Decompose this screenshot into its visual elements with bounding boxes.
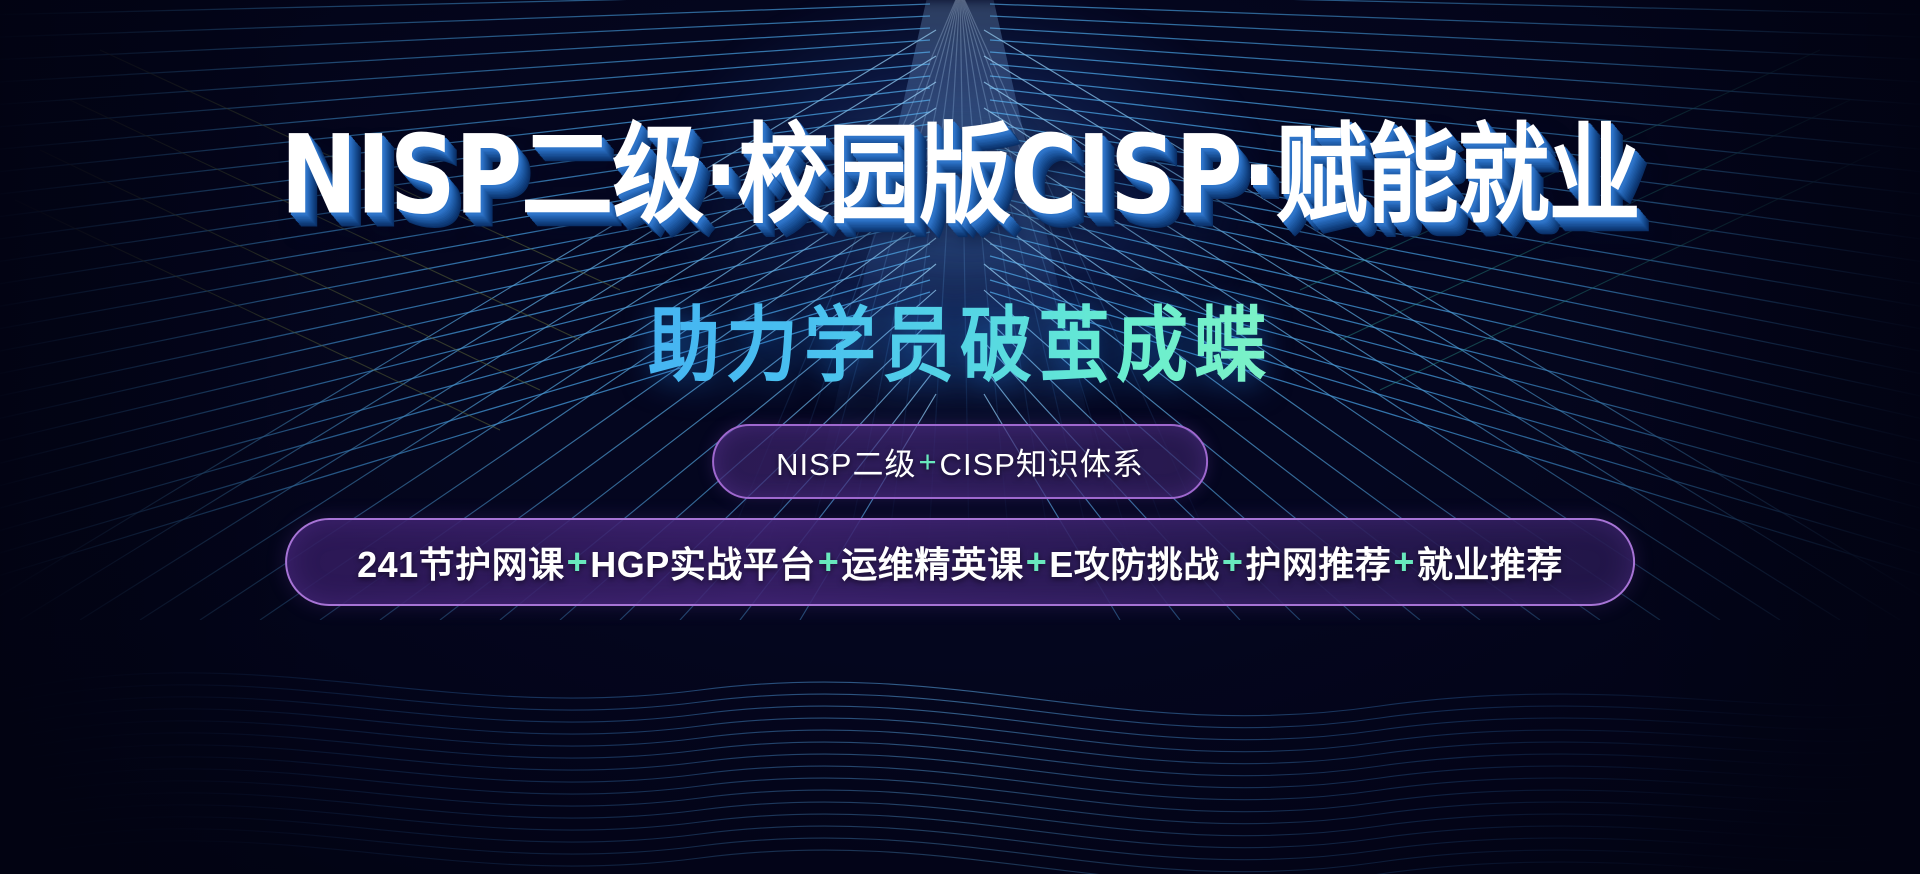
badge-features-seg-1: HGP实战平台 bbox=[590, 536, 816, 588]
badge-features-sep-1: + bbox=[816, 541, 842, 583]
badge-features-seg-4: 护网推荐 bbox=[1245, 536, 1391, 588]
badge-primary-seg-0: NISP二级 bbox=[776, 439, 916, 484]
badge-features-seg-5: 就业推荐 bbox=[1417, 536, 1563, 588]
badge-features-sep-4: + bbox=[1391, 541, 1417, 583]
badge-features-seg-0: 241节护网课 bbox=[357, 536, 565, 588]
badge-features-seg-3: E攻防挑战 bbox=[1049, 536, 1220, 588]
banner-title: NISP二级·校园版CISP·赋能就业 bbox=[280, 119, 1639, 233]
badge-primary-sep-0: + bbox=[916, 444, 939, 480]
badge-features-sep-2: + bbox=[1024, 541, 1050, 583]
title-container: NISP二级·校园版CISP·赋能就业 bbox=[0, 128, 1920, 225]
badge-primary-seg-1: CISP知识体系 bbox=[940, 439, 1144, 484]
badge-features-sep-0: + bbox=[565, 541, 591, 583]
promo-banner: NISP二级·校园版CISP·赋能就业 助力学员破茧成蝶 NISP二级 + CI… bbox=[0, 0, 1920, 874]
badge-features-sep-3: + bbox=[1220, 541, 1246, 583]
badge-features: 241节护网课 + HGP实战平台 + 运维精英课 + E攻防挑战 + 护网推荐… bbox=[285, 518, 1635, 606]
banner-subtitle: 助力学员破茧成蝶 bbox=[648, 278, 1272, 398]
subtitle-container: 助力学员破茧成蝶 bbox=[0, 285, 1920, 390]
badge-primary: NISP二级 + CISP知识体系 bbox=[712, 424, 1208, 499]
badge-features-seg-2: 运维精英课 bbox=[841, 536, 1024, 588]
banner-content: NISP二级·校园版CISP·赋能就业 助力学员破茧成蝶 NISP二级 + CI… bbox=[0, 0, 1920, 874]
